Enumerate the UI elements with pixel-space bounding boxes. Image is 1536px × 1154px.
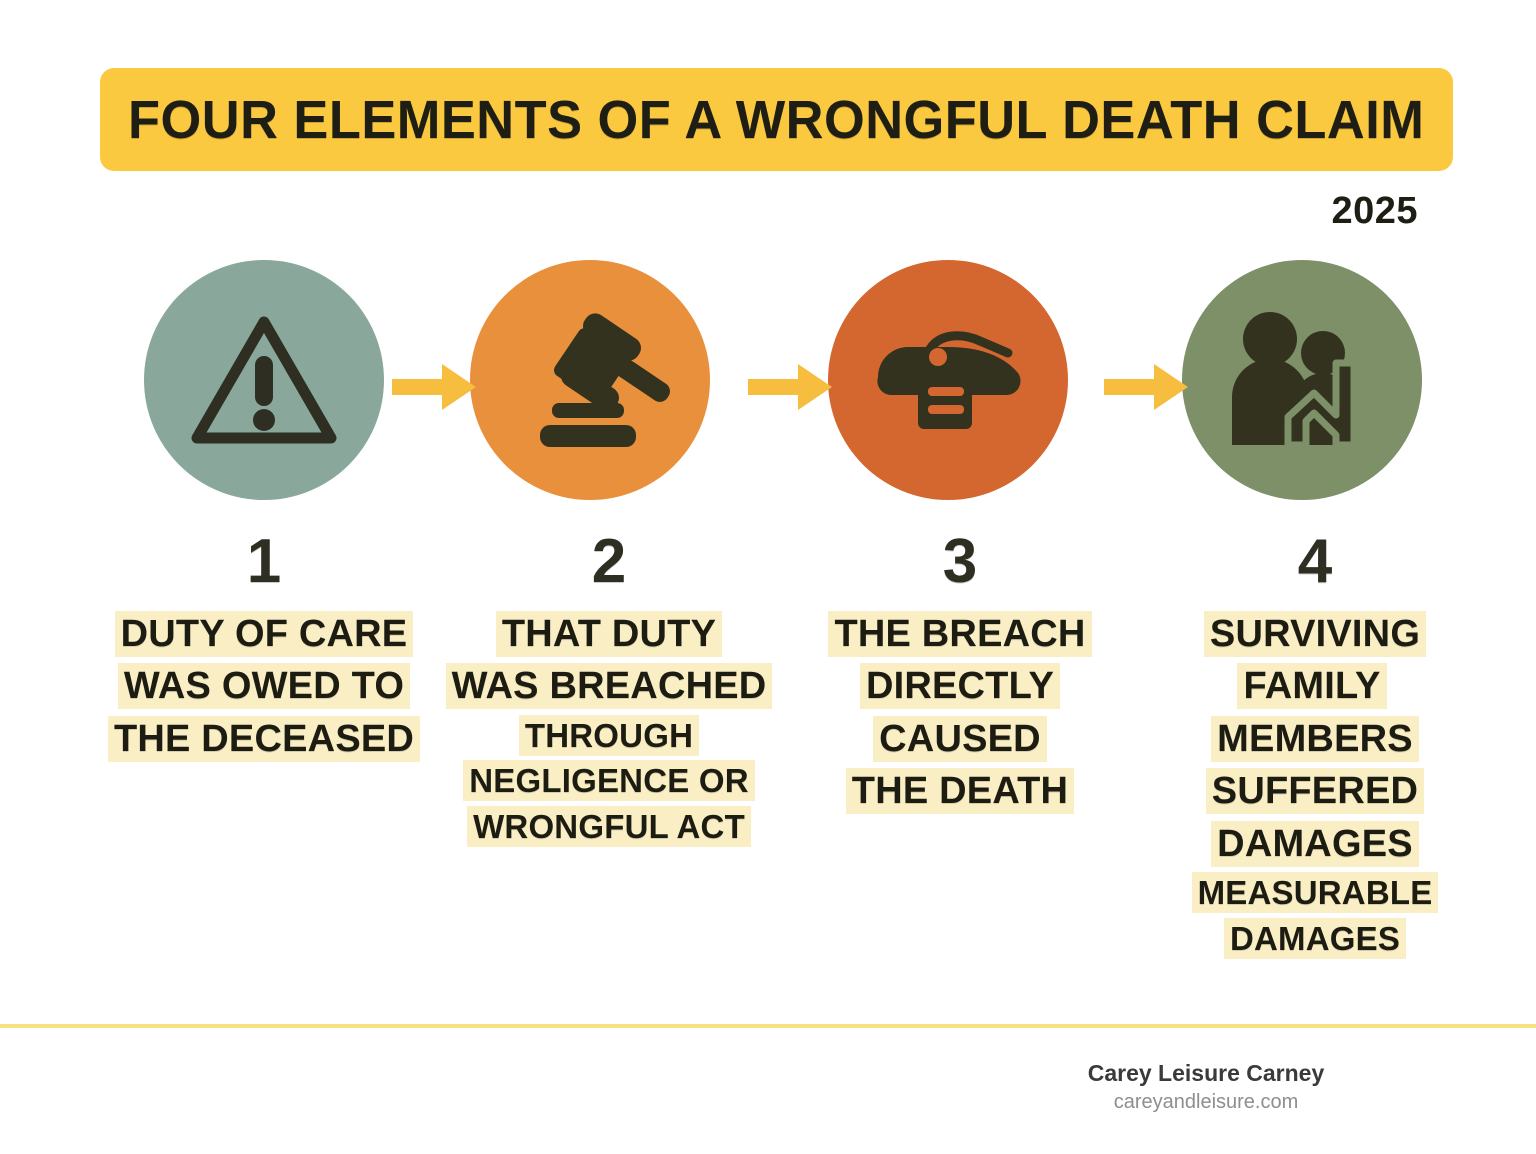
- step-4-line-5: MEASURABLE: [1192, 872, 1439, 913]
- step-3-line-1: THE BREACH: [828, 611, 1091, 657]
- step-4-line-4: DAMAGES: [1211, 821, 1419, 867]
- step-3-number: 3: [800, 528, 1120, 596]
- step-1-lines: DUTY OF CARE WAS OWED TO THE DECEASED: [96, 608, 432, 765]
- step-2-line-3: THROUGH: [519, 715, 699, 756]
- step-2-line-2: WAS BREACHED: [446, 663, 773, 709]
- title-banner: FOUR ELEMENTS OF A WRONGFUL DEATH CLAIM: [100, 68, 1453, 171]
- step-3: 3 THE BREACH DIRECTLY CAUSED THE DEATH: [800, 528, 1120, 818]
- footer-divider: [0, 1024, 1536, 1028]
- flow-row: [0, 260, 1536, 530]
- step-2-line-5: WRONGFUL ACT: [467, 806, 751, 847]
- arrow-right-icon-3: [1104, 360, 1192, 414]
- arrow-right-icon-2: [748, 360, 836, 414]
- step-1-line-3: THE DECEASED: [108, 716, 420, 762]
- step-4-icon-circle[interactable]: [1182, 260, 1422, 500]
- step-1-line-2: WAS OWED TO: [118, 663, 410, 709]
- gavel-icon: [510, 305, 670, 455]
- step-1: 1 DUTY OF CARE WAS OWED TO THE DECEASED: [96, 528, 432, 765]
- step-4-line-1: SURVIVING: [1204, 611, 1426, 657]
- step-4-line-2: FAMILY MEMBERS: [1211, 663, 1419, 761]
- step-2-line-1: THAT DUTY: [496, 611, 722, 657]
- step-4-line-6: DAMAGES: [1224, 918, 1406, 959]
- body-toe-tag-icon: [868, 315, 1028, 445]
- step-2-line-4: NEGLIGENCE OR: [463, 760, 754, 801]
- arrow-right-icon-1: [392, 360, 480, 414]
- step-3-line-3: CAUSED: [873, 716, 1047, 762]
- step-1-icon-circle[interactable]: [144, 260, 384, 500]
- step-2-icon-circle[interactable]: [470, 260, 710, 500]
- family-declining-chart-icon: [1222, 305, 1382, 455]
- step-1-line-1: DUTY OF CARE: [115, 611, 414, 657]
- footer-brand-name: Carey Leisure Carney: [996, 1058, 1416, 1088]
- step-4-line-3: SUFFERED: [1206, 768, 1424, 814]
- step-4: 4 SURVIVING FAMILY MEMBERS SUFFERED DAMA…: [1140, 528, 1490, 961]
- step-3-icon-circle[interactable]: [828, 260, 1068, 500]
- year-label: 2025: [1331, 190, 1418, 233]
- step-1-number: 1: [96, 528, 432, 596]
- step-2-lines: THAT DUTY WAS BREACHED THROUGH NEGLIGENC…: [438, 608, 780, 849]
- footer-website-url[interactable]: careyandleisure.com: [996, 1088, 1416, 1116]
- step-4-lines: SURVIVING FAMILY MEMBERS SUFFERED DAMAGE…: [1140, 608, 1490, 961]
- page-title: FOUR ELEMENTS OF A WRONGFUL DEATH CLAIM: [128, 89, 1424, 151]
- step-4-number: 4: [1140, 528, 1490, 596]
- step-3-line-2: DIRECTLY: [860, 663, 1060, 709]
- step-3-lines: THE BREACH DIRECTLY CAUSED THE DEATH: [800, 608, 1120, 818]
- step-3-line-4: THE DEATH: [846, 768, 1074, 814]
- footer: Carey Leisure Carney careyandleisure.com: [996, 1058, 1416, 1116]
- step-2: 2 THAT DUTY WAS BREACHED THROUGH NEGLIGE…: [438, 528, 780, 849]
- step-2-number: 2: [438, 528, 780, 596]
- warning-triangle-icon: [189, 310, 339, 450]
